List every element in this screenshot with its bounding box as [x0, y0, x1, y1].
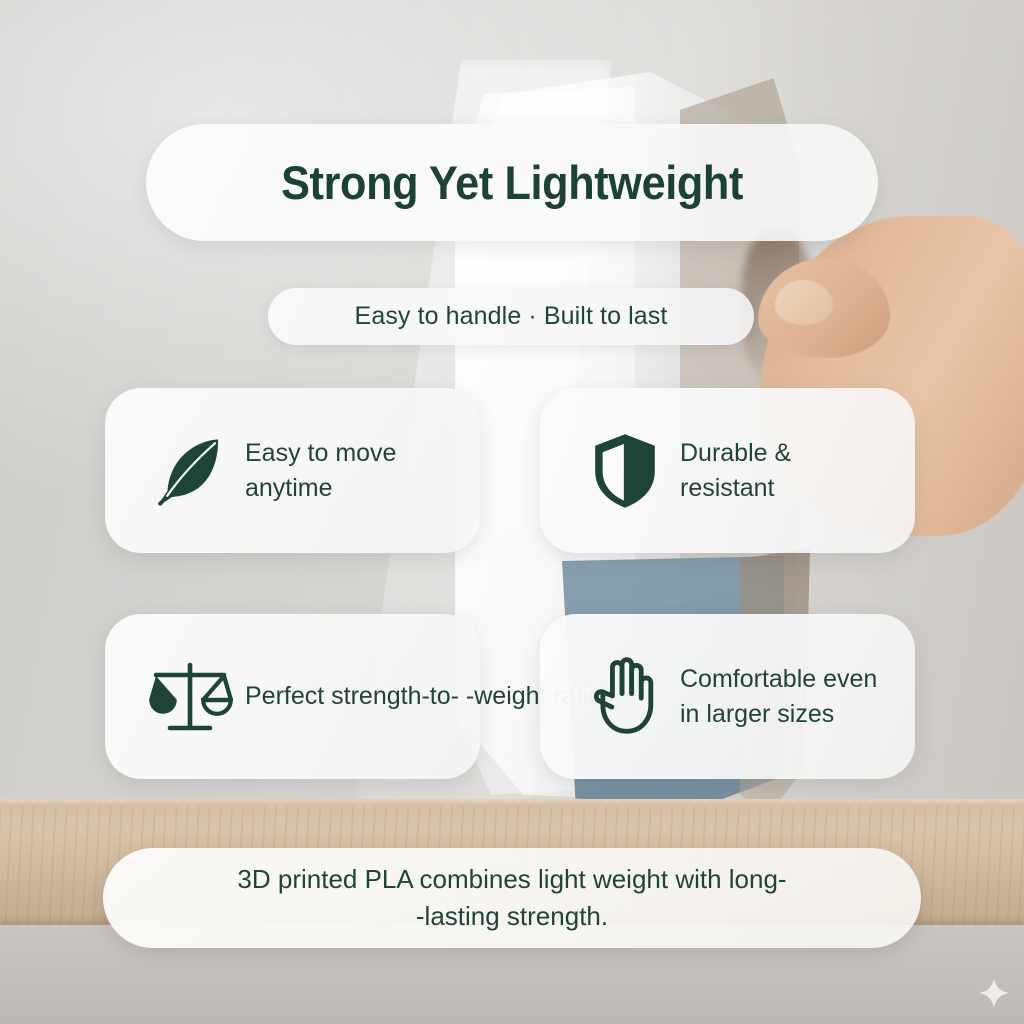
page-subtitle: Easy to handle · Built to last [355, 302, 668, 331]
footer-pill: 3D printed PLA combines light weight wit… [103, 848, 921, 948]
page-title: Strong Yet Lightweight [281, 155, 743, 210]
infographic-canvas: Strong Yet Lightweight Easy to handle · … [0, 0, 1024, 1024]
subtitle-pill: Easy to handle · Built to last [268, 288, 754, 345]
shield-icon [582, 432, 668, 510]
feature-card-comfortable[interactable]: Comfortable even in larger sizes [540, 614, 915, 779]
feature-card-durable[interactable]: Durable & resistant [540, 388, 915, 553]
feather-icon [147, 432, 233, 510]
hand-icon [582, 657, 668, 737]
overlay-layer: Strong Yet Lightweight Easy to handle · … [0, 0, 1024, 1024]
title-pill: Strong Yet Lightweight [146, 124, 878, 241]
sparkle-star-icon [979, 978, 1009, 1008]
feature-card-easy-to-move[interactable]: Easy to move anytime [105, 388, 480, 553]
feature-label: Easy to move anytime [245, 436, 396, 505]
feature-card-strength-to-weight[interactable]: Perfect strength-to- -weight ratio [105, 614, 480, 779]
feature-label: Comfortable even in larger sizes [680, 662, 877, 731]
balance-scale-icon [147, 659, 233, 735]
footer-text: 3D printed PLA combines light weight wit… [237, 861, 786, 935]
feature-label: Durable & resistant [680, 436, 791, 505]
